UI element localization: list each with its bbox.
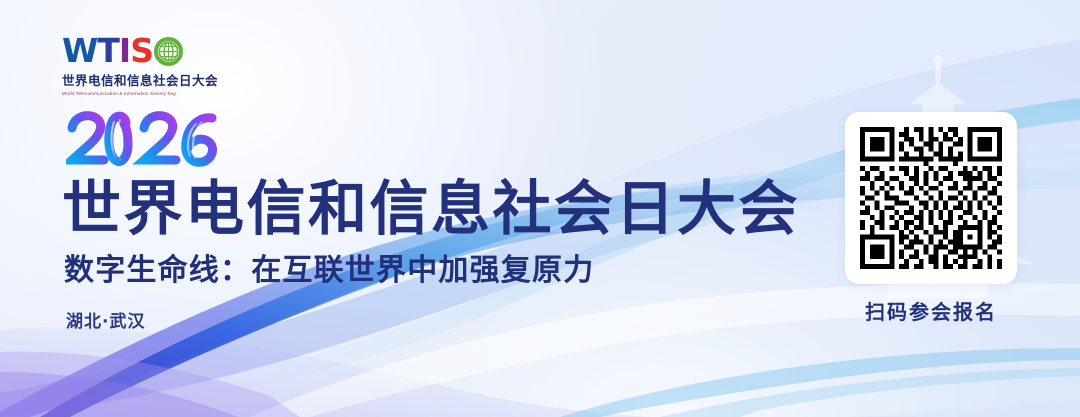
logo-letter-t: T: [97, 34, 119, 67]
year-2026-mark: [66, 108, 238, 170]
logo-letter-i: I: [119, 34, 130, 67]
globe-icon: [154, 37, 183, 66]
logo-letter-s: S: [130, 34, 153, 67]
page-title: 世界电信和信息社会日大会: [62, 178, 800, 240]
logo-wordmark: W T I S: [62, 33, 214, 67]
event-banner: W T I S 世界电信和信息社会日大会 World Telecommunica…: [0, 0, 1080, 417]
wtisd-logo: W T I S 世界电信和信息社会日大会 World Telecommunica…: [62, 33, 214, 96]
logo-letter-w: W: [62, 34, 97, 67]
qr-code-image: [860, 127, 1002, 269]
qr-caption: 扫码参会报名: [845, 296, 1017, 325]
page-subtitle: 数字生命线：在互联世界中加强复原力: [64, 252, 594, 290]
logo-chinese-name: 世界电信和信息社会日大会: [62, 70, 214, 89]
qr-code-card[interactable]: [845, 112, 1017, 284]
event-location: 湖北·武汉: [66, 310, 145, 334]
logo-english-name: World Telecommunication & Information So…: [62, 91, 214, 96]
